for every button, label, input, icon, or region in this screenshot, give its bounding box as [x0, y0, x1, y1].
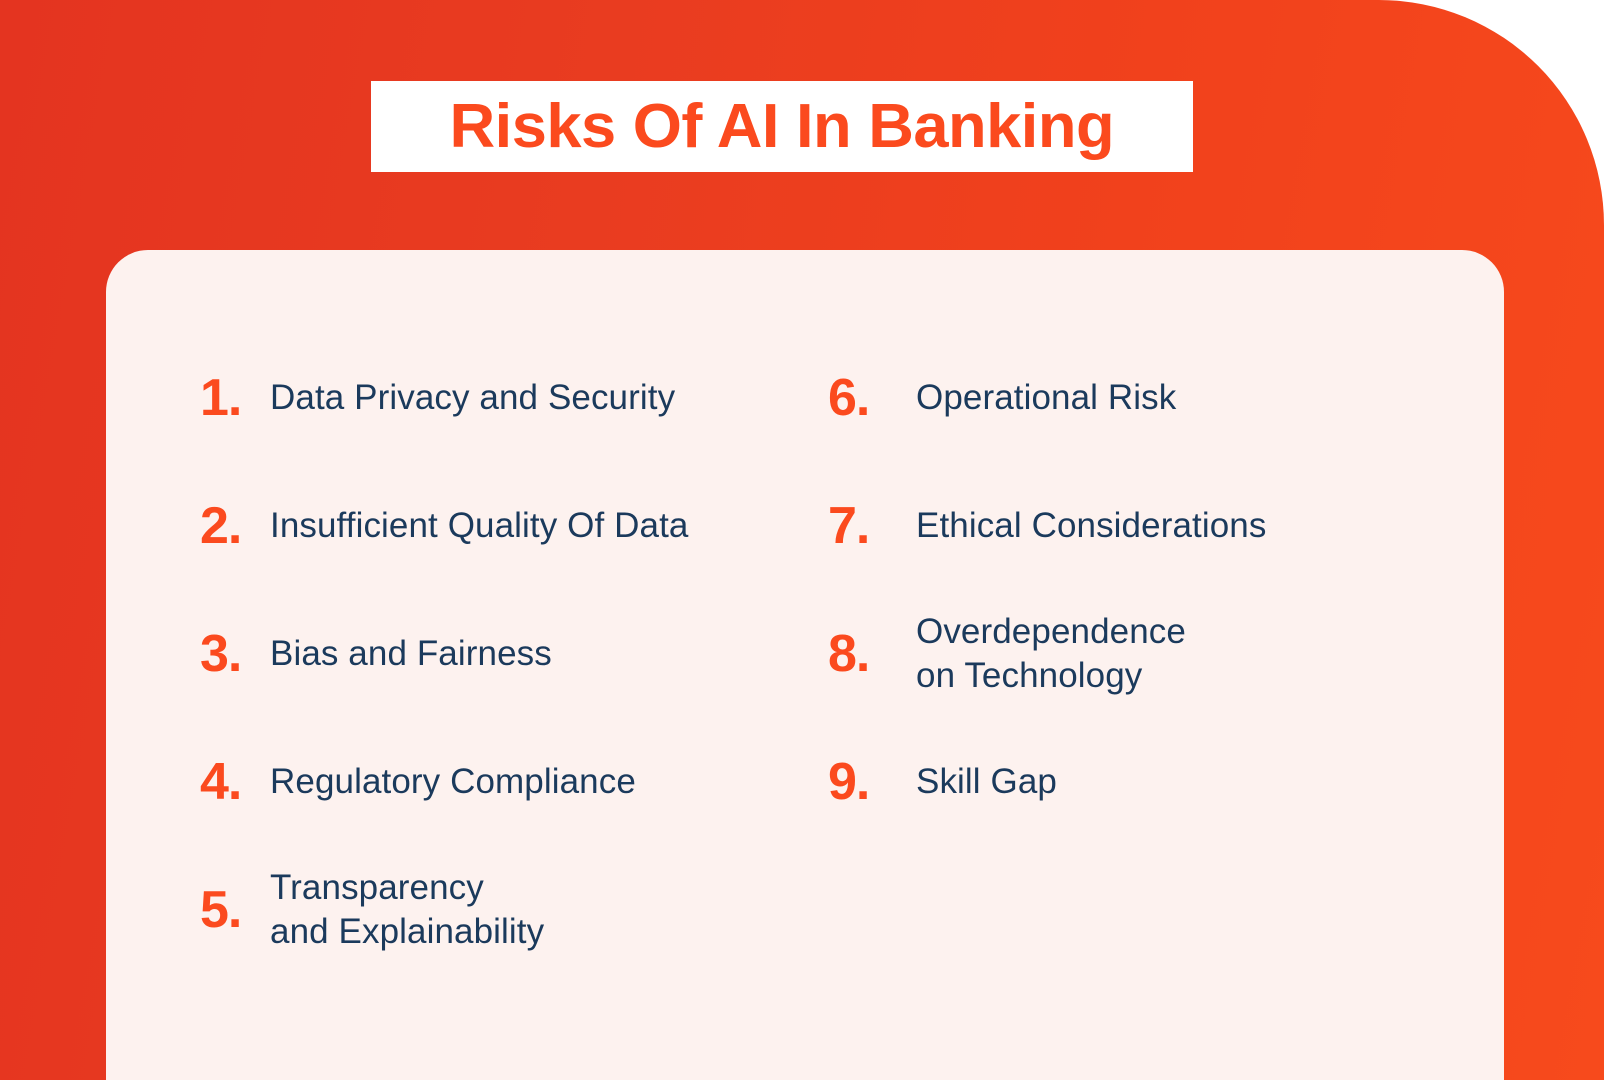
- list-item-number: 9.: [828, 756, 916, 808]
- list-item-label: Insufficient Quality Of Data: [270, 504, 820, 548]
- list-item-label: Skill Gap: [916, 760, 1428, 804]
- list-item[interactable]: 7. Ethical Considerations: [828, 462, 1428, 590]
- list-item-number: 8.: [828, 628, 916, 680]
- risk-list-left-column: 1. Data Privacy and Security 2. Insuffic…: [200, 334, 820, 974]
- list-item-number: 3.: [200, 628, 270, 680]
- list-item-number: 6.: [828, 372, 916, 424]
- list-item-number: 7.: [828, 500, 916, 552]
- list-item[interactable]: 1. Data Privacy and Security: [200, 334, 820, 462]
- page-title: Risks Of AI In Banking: [450, 96, 1115, 158]
- list-item-number: 5.: [200, 884, 270, 936]
- list-item[interactable]: 8. Overdependence on Technology: [828, 590, 1428, 718]
- list-item-number: 2.: [200, 500, 270, 552]
- list-item[interactable]: 4. Regulatory Compliance: [200, 718, 820, 846]
- list-item-label: Regulatory Compliance: [270, 760, 820, 804]
- content-card: 1. Data Privacy and Security 2. Insuffic…: [106, 250, 1504, 1080]
- list-item-label: Operational Risk: [916, 376, 1428, 420]
- title-plate: Risks Of AI In Banking: [371, 81, 1193, 172]
- list-item-label: Transparency and Explainability: [270, 866, 820, 954]
- list-item-label: Overdependence on Technology: [916, 610, 1428, 698]
- list-item[interactable]: 6. Operational Risk: [828, 334, 1428, 462]
- list-item[interactable]: 2. Insufficient Quality Of Data: [200, 462, 820, 590]
- list-item[interactable]: 9. Skill Gap: [828, 718, 1428, 846]
- list-item-number: 4.: [200, 756, 270, 808]
- list-item-label: Ethical Considerations: [916, 504, 1428, 548]
- list-item[interactable]: 5. Transparency and Explainability: [200, 846, 820, 974]
- list-item-label: Data Privacy and Security: [270, 376, 820, 420]
- infographic-root: Risks Of AI In Banking 1. Data Privacy a…: [0, 0, 1610, 1080]
- list-item-label: Bias and Fairness: [270, 632, 820, 676]
- list-item[interactable]: 3. Bias and Fairness: [200, 590, 820, 718]
- content-card-inner: 1. Data Privacy and Security 2. Insuffic…: [106, 250, 1504, 1080]
- risk-list-right-column: 6. Operational Risk 7. Ethical Considera…: [828, 334, 1428, 846]
- list-item-number: 1.: [200, 372, 270, 424]
